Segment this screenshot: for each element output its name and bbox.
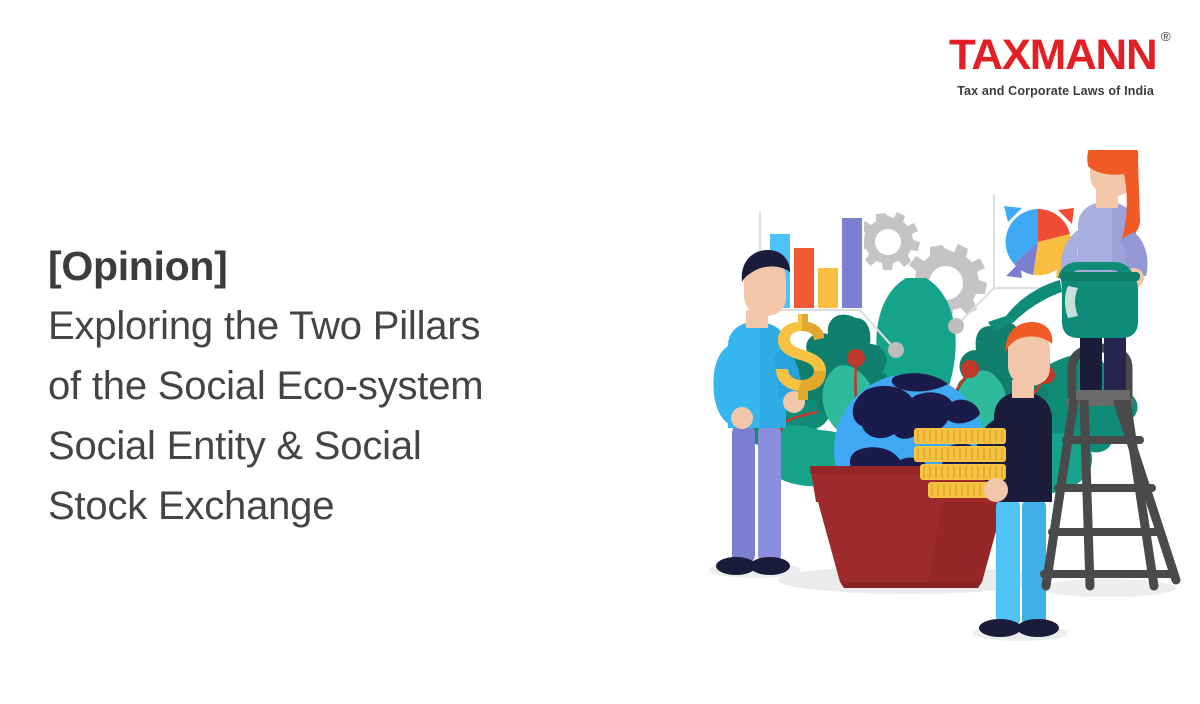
bar-chart-connector-dot: [888, 342, 904, 358]
man1-leg-right: [758, 424, 781, 564]
man2-shoe-left: [979, 619, 1021, 637]
gear-small: [857, 212, 920, 270]
logo-wordmark: TAXMANN®: [949, 34, 1156, 77]
man2-leg-left: [996, 498, 1020, 628]
man2-hand: [984, 478, 1008, 502]
man2-leg-right: [1022, 498, 1046, 628]
bar-chart-bar-3: [818, 268, 838, 308]
headline-kicker: [Opinion]: [48, 236, 668, 296]
pot-base: [840, 582, 982, 588]
pie-chart-connector-dot: [948, 318, 964, 334]
bar-chart-bar-4: [842, 218, 862, 308]
headline-line-3: Social Entity & Social: [48, 416, 668, 476]
page-title: [Opinion] Exploring the Two Pillars of t…: [48, 236, 668, 536]
registered-trademark-icon: ®: [1161, 30, 1171, 43]
headline-line-1: Exploring the Two Pillars: [48, 296, 668, 356]
headline-line-4: Stock Exchange: [48, 476, 668, 536]
logo-wordmark-text: TAXMANN: [949, 31, 1156, 79]
social-ecosystem-illustration: [660, 150, 1200, 670]
banner-root: TAXMANN® Tax and Corporate Laws of India…: [0, 0, 1200, 704]
logo-tagline: Tax and Corporate Laws of India: [944, 84, 1154, 98]
headline-line-2: of the Social Eco-system: [48, 356, 668, 416]
man1-leg-left: [732, 424, 755, 564]
berry-1: [847, 349, 865, 367]
berry-2: [961, 360, 979, 378]
bar-chart-bar-2: [794, 248, 814, 308]
ladder-leg-back-left: [1084, 400, 1090, 586]
woman-shoe: [1076, 390, 1130, 400]
man1-shoe-right: [750, 557, 790, 575]
taxmann-logo[interactable]: TAXMANN® Tax and Corporate Laws of India: [944, 34, 1154, 98]
man2-shoe-right: [1017, 619, 1059, 637]
man1-hand-left: [731, 407, 753, 429]
